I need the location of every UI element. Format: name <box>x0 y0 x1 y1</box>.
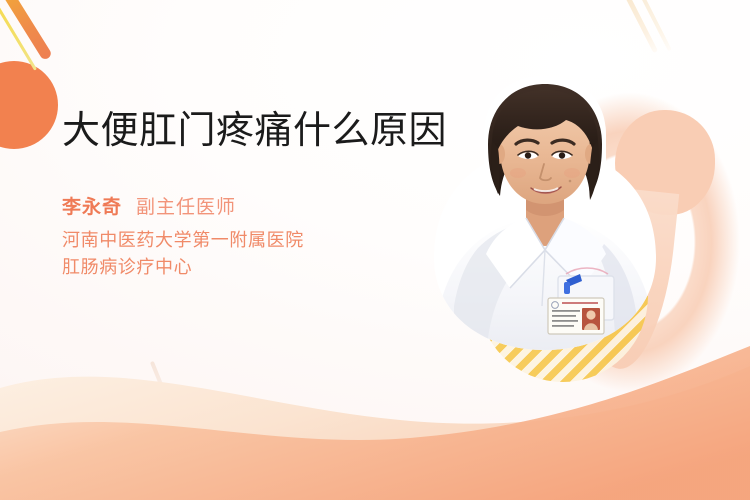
doctor-department: 肛肠病诊疗中心 <box>62 255 462 281</box>
doctor-name: 李永奇 <box>62 192 122 219</box>
doctor-affiliation: 河南中医药大学第一附属医院 肛肠病诊疗中心 <box>62 228 462 280</box>
doctor-rank: 副主任医师 <box>136 192 236 219</box>
page-title: 大便肛门疼痛什么原因 <box>62 108 462 152</box>
cream-streak-icon-1 <box>621 0 658 53</box>
cream-streak-icon-3 <box>150 361 170 403</box>
card-text-content: 大便肛门疼痛什么原因 李永奇 副主任医师 河南中医药大学第一附属医院 肛肠病诊疗… <box>62 108 462 281</box>
doctor-meta: 李永奇 副主任医师 河南中医药大学第一附属医院 肛肠病诊疗中心 <box>62 192 462 280</box>
video-cover-card: 大便肛门疼痛什么原因 李永奇 副主任医师 河南中医药大学第一附属医院 肛肠病诊疗… <box>0 0 750 500</box>
doctor-hospital: 河南中医药大学第一附属医院 <box>62 228 462 254</box>
doctor-portrait-photo <box>430 68 660 368</box>
orange-streak-icon <box>2 0 53 61</box>
cream-streak-icon-2 <box>638 0 672 51</box>
orange-circle-shape <box>0 61 58 149</box>
doctor-name-row: 李永奇 副主任医师 <box>62 192 462 219</box>
yellow-streak-icon <box>0 0 37 71</box>
